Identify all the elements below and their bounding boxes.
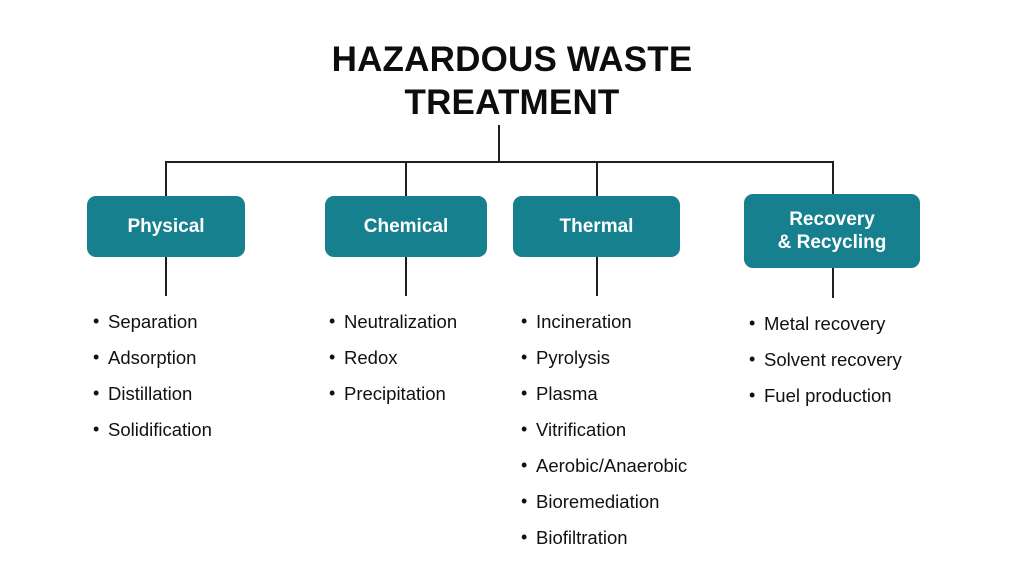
connector-drop-recovery-recycling xyxy=(832,161,834,194)
bullet-list-thermal: Incineration Pyrolysis Plasma Vitrificat… xyxy=(521,313,687,565)
list-item: Fuel production xyxy=(749,387,902,406)
connector-stub-chemical xyxy=(405,256,407,296)
list-item: Precipitation xyxy=(329,385,457,404)
list-item: Redox xyxy=(329,349,457,368)
bullet-list-chemical: Neutralization Redox Precipitation xyxy=(329,313,457,421)
connector-root-stem xyxy=(498,125,500,163)
list-item: Incineration xyxy=(521,313,687,332)
connector-horizontal-bus xyxy=(165,161,834,163)
list-item: Bioremediation xyxy=(521,493,687,512)
list-item: Solvent recovery xyxy=(749,351,902,370)
list-item: Biofiltration xyxy=(521,529,687,548)
diagram-canvas: HAZARDOUS WASTE TREATMENT Physical Chemi… xyxy=(0,0,1024,576)
category-box-chemical[interactable]: Chemical xyxy=(325,196,487,257)
category-box-thermal[interactable]: Thermal xyxy=(513,196,680,257)
connector-stub-thermal xyxy=(596,256,598,296)
connector-drop-physical xyxy=(165,161,167,196)
connector-stub-recovery-recycling xyxy=(832,268,834,298)
list-item: Neutralization xyxy=(329,313,457,332)
list-item: Aerobic/Anaerobic xyxy=(521,457,687,476)
list-item: Plasma xyxy=(521,385,687,404)
list-item: Adsorption xyxy=(93,349,212,368)
list-item: Distillation xyxy=(93,385,212,404)
bullet-list-physical: Separation Adsorption Distillation Solid… xyxy=(93,313,212,457)
list-item: Vitrification xyxy=(521,421,687,440)
connector-stub-physical xyxy=(165,256,167,296)
category-box-recovery-recycling[interactable]: Recovery & Recycling xyxy=(744,194,920,268)
list-item: Metal recovery xyxy=(749,315,902,334)
connector-drop-chemical xyxy=(405,161,407,196)
category-box-physical[interactable]: Physical xyxy=(87,196,245,257)
list-item: Pyrolysis xyxy=(521,349,687,368)
list-item: Separation xyxy=(93,313,212,332)
page-title: HAZARDOUS WASTE TREATMENT xyxy=(0,38,1024,124)
bullet-list-recovery-recycling: Metal recovery Solvent recovery Fuel pro… xyxy=(749,315,902,423)
list-item: Solidification xyxy=(93,421,212,440)
connector-drop-thermal xyxy=(596,161,598,196)
